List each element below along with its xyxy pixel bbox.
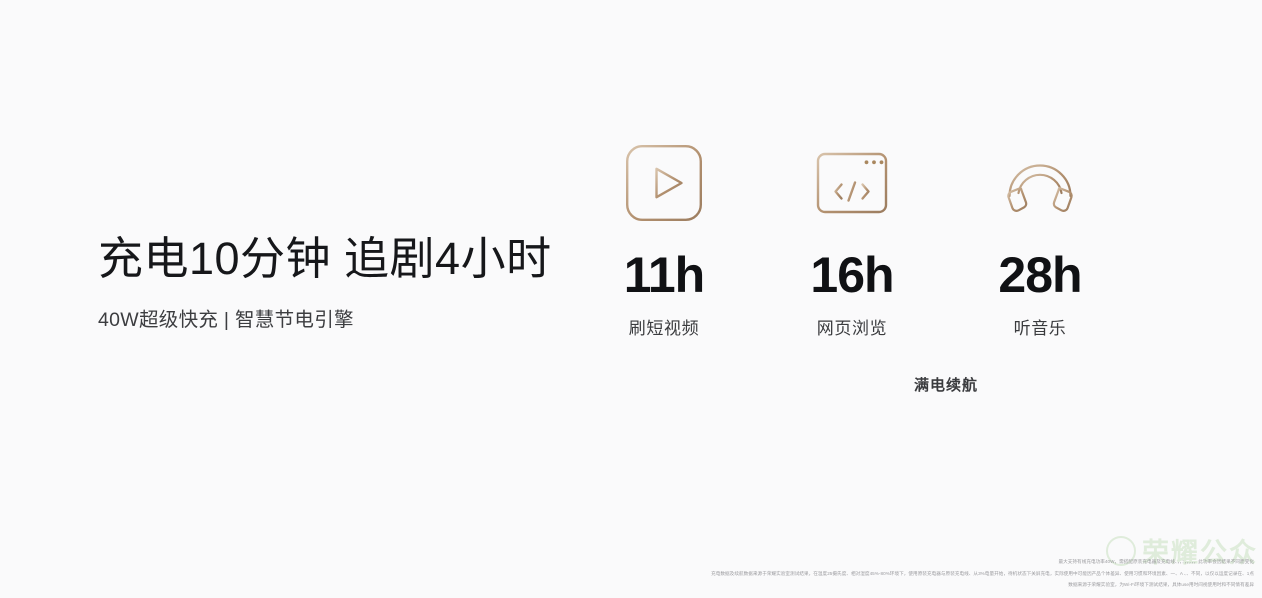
footnote-line: 最大支持有线充电功率40W，需搭配原装充电器及充电线、，，：，，，，，此功率会因… — [0, 556, 1262, 567]
stat-item: 11h 刷短视频 — [570, 140, 758, 337]
stat-value: 16h — [810, 250, 893, 300]
stat-label: 听音乐 — [1014, 320, 1067, 337]
stats-caption: 满电续航 — [570, 374, 1134, 395]
browser-code-icon — [812, 140, 892, 226]
play-video-icon — [624, 140, 704, 226]
headphones-icon — [1000, 140, 1080, 226]
footnote-block: 最大支持有线充电功率40W，需搭配原装充电器及充电线、，，：，，，，，此功率会因… — [0, 556, 1254, 590]
footnote-line: 充电数据及续航数据来源于荣耀实验室测试结果，在温度25摄氏度、相对湿度45%-8… — [0, 568, 1256, 579]
slide-canvas: 充电10分钟 追剧4小时 40W超级快充 | 智慧节电引擎 — [0, 0, 1262, 598]
stat-value: 28h — [998, 250, 1081, 300]
page-title: 充电10分钟 追剧4小时 — [98, 232, 568, 285]
stats-caption-text: 满电续航 — [852, 374, 1040, 395]
stat-item: 28h 听音乐 — [946, 140, 1134, 337]
page-subtitle: 40W超级快充 | 智慧节电引擎 — [98, 303, 568, 332]
headline-block: 充电10分钟 追剧4小时 40W超级快充 | 智慧节电引擎 — [98, 232, 568, 332]
stats-row: 11h 刷短视频 — [570, 140, 1134, 337]
stat-label: 刷短视频 — [629, 320, 699, 337]
stat-item: 16h 网页浏览 — [758, 140, 946, 337]
footnote-line: 数据来源于荣耀实验室，为Wi-Fi环境下测试结果，具体use用时间视使用时和不同… — [0, 579, 1262, 590]
stat-label: 网页浏览 — [817, 320, 887, 337]
stat-value: 11h — [624, 250, 704, 300]
